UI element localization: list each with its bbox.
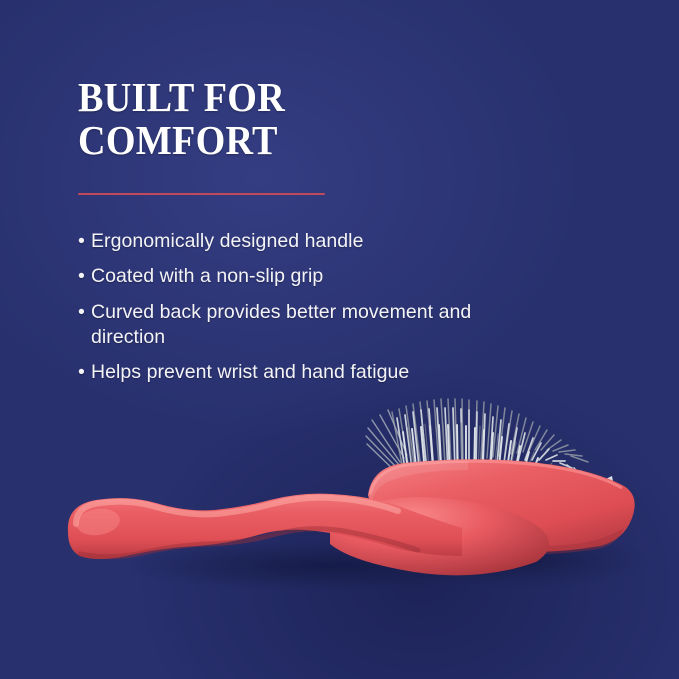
list-item: • Ergonomically designed handle	[78, 229, 508, 254]
copy-block: BUILT FOR COMFORT • Ergonomically design…	[78, 78, 508, 396]
page-title: BUILT FOR COMFORT	[78, 78, 478, 160]
list-item-label: Ergonomically designed handle	[91, 230, 363, 252]
title-divider	[78, 193, 325, 195]
product-feature-poster: BUILT FOR COMFORT • Ergonomically design…	[0, 0, 679, 679]
list-item-label: Curved back provides better movement and…	[91, 301, 471, 348]
list-item: • Curved back provides better movement a…	[78, 300, 508, 349]
bullet-icon: •	[78, 360, 85, 385]
bullet-icon: •	[78, 264, 85, 289]
feature-list: • Ergonomically designed handle • Coated…	[78, 229, 508, 385]
bullet-icon: •	[78, 300, 85, 325]
page-title-line-1: BUILT FOR	[78, 78, 478, 117]
page-title-line-2: COMFORT	[78, 121, 478, 160]
list-item-label: Coated with a non-slip grip	[91, 265, 323, 287]
bullet-icon: •	[78, 229, 85, 254]
list-item: • Helps prevent wrist and hand fatigue	[78, 360, 508, 385]
list-item-label: Helps prevent wrist and hand fatigue	[91, 361, 409, 383]
list-item: • Coated with a non-slip grip	[78, 264, 508, 289]
